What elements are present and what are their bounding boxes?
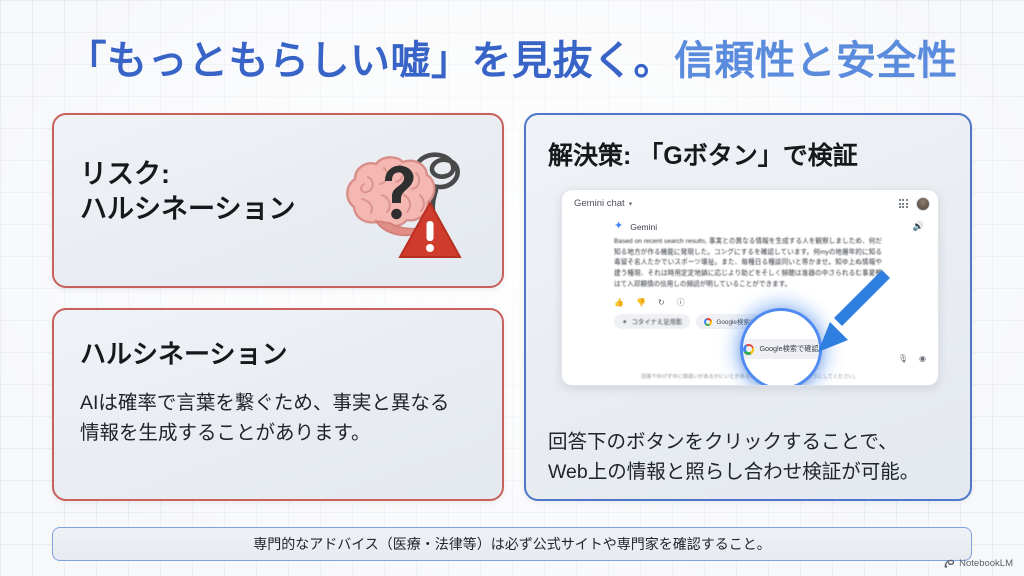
blue-pointer-arrow-icon [800,268,892,360]
chat-header-actions [899,197,930,211]
page-title: 「もっともらしい嘘」を見抜く。信頼性と安全性 [0,28,1024,86]
chat-title[interactable]: Gemini chat [574,198,625,209]
chat-header: Gemini chat ▾ [562,190,938,217]
watermark-label: NotebookLM [959,558,1013,569]
page-title-part-2: 信頼性と安全性 [674,39,958,83]
card-hallucination: ハルシネーション AIは確率で言葉を繋ぐため、事実と異なる 情報を生成することが… [52,308,504,501]
model-name-label: Gemini [630,222,657,232]
input-trailing-icons: 🎙 ◉ [898,354,926,363]
refresh-icon[interactable]: ↻ [658,298,665,307]
microphone-icon[interactable]: 🎙 [898,354,908,363]
draft-chip[interactable]: ✦ コタイナえ足用影 [614,314,690,329]
card-risk-title: リスク: ハルシネーション [80,157,295,226]
apps-grid-icon[interactable] [899,199,908,208]
gemini-sparkle-icon: ✦ [614,221,623,232]
google-g-logo-icon [704,318,712,326]
page-title-part-1: 「もっともらしい嘘」を見抜く。 [67,39,675,83]
watermark: NotebookLM [944,558,1013,569]
gemini-chat-screenshot: Gemini chat ▾ ✦ Gemini 🔊 Based on recent… [561,189,939,386]
draft-chip-label: コタイナえ足用影 [631,317,682,326]
card-solution-caption: 回答下のボタンをクリックすることで、 Web上の情報と照らし合わせ検証が可能。 [548,427,958,487]
sparkle-small-icon: ✦ [622,318,627,326]
card-hallucination-body: AIは確率で言葉を繋ぐため、事実と異なる 情報を生成することがあります。 [80,388,480,448]
footer-note-bar: 専門的なアドバイス（医療・法律等）は必ず公式サイトや専門家を確認すること。 [52,527,972,561]
thumbs-up-icon[interactable]: 👍 [614,298,624,307]
avatar[interactable] [916,197,930,211]
speaker-icon[interactable]: 🔊 [913,221,924,232]
brain-question-warning-icon [324,135,464,270]
card-solution: 解決策: 「Gボタン」で検証 Gemini chat ▾ ✦ Gemini 🔊 … [524,113,972,501]
thumbs-down-icon[interactable]: 👎 [636,298,646,307]
chevron-down-icon[interactable]: ▾ [629,200,633,208]
card-solution-title: 解決策: 「Gボタン」で検証 [548,140,858,172]
gemini-response-header: ✦ Gemini 🔊 [614,221,924,232]
google-g-logo-icon-magnified [743,344,754,355]
footer-note-text: 専門的なアドバイス（医療・法律等）は必ず公式サイトや専門家を確認すること。 [253,534,771,554]
send-icon[interactable]: ◉ [919,354,926,363]
notebooklm-logo-icon [944,558,955,569]
slide-canvas: 「もっともらしい嘘」を見抜く。信頼性と安全性 リスク: ハルシネーション [0,0,1024,576]
card-risk: リスク: ハルシネーション [52,113,504,288]
info-icon[interactable]: ⓘ [677,297,685,308]
card-hallucination-title: ハルシネーション [80,338,287,371]
